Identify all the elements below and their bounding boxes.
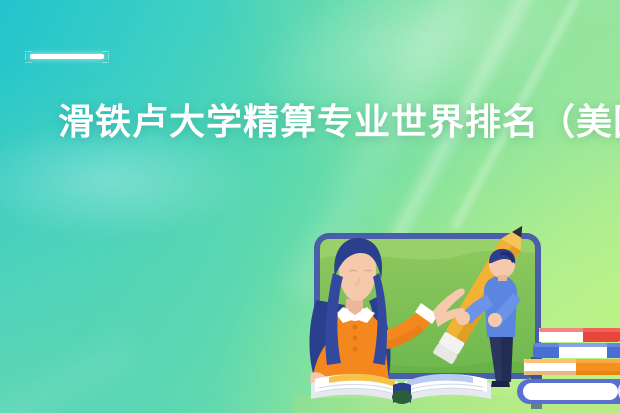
rule-bar	[30, 54, 104, 59]
page-title: 滑铁卢大学精算专业世界排名（美国	[58, 99, 620, 145]
light-streak-4	[0, 330, 142, 413]
decorative-rule	[25, 50, 109, 66]
banner-image: 滑铁卢大学精算专业世界排名（美国	[0, 0, 620, 413]
search-bar	[517, 378, 620, 404]
student-learning-illustration	[293, 207, 620, 413]
